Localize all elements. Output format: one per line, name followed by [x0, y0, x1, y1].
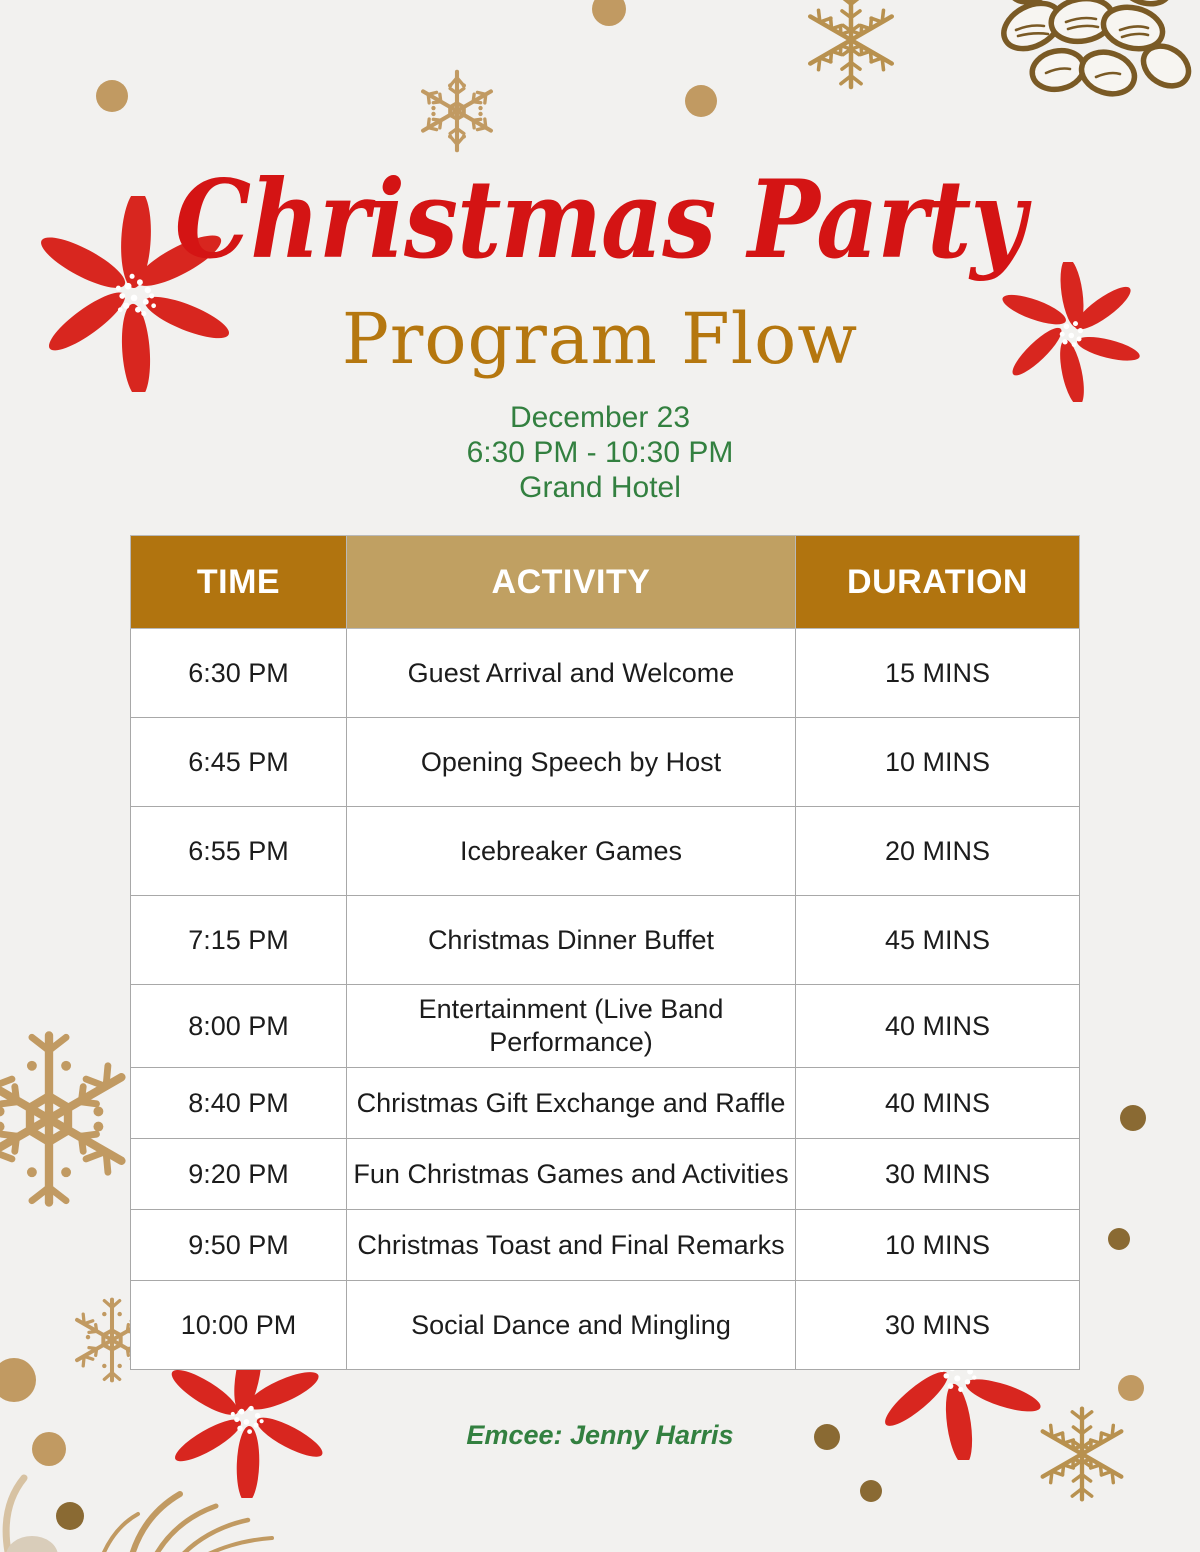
row-activity: Opening Speech by Host: [347, 718, 796, 807]
gold-dot-far-bottom-left: [56, 1502, 84, 1530]
row-duration: 40 MINS: [796, 1068, 1080, 1139]
row-duration: 10 MINS: [796, 718, 1080, 807]
table-row: 8:00 PMEntertainment (Live Band Performa…: [131, 985, 1080, 1068]
table-row: 6:45 PMOpening Speech by Host10 MINS: [131, 718, 1080, 807]
page-title-script: Christmas Party: [0, 166, 1200, 274]
table-row: 10:00 PMSocial Dance and Mingling30 MINS: [131, 1281, 1080, 1370]
row-duration: 45 MINS: [796, 896, 1080, 985]
gold-dot-right-lower: [1108, 1228, 1130, 1250]
table-row: 6:55 PMIcebreaker Games20 MINS: [131, 807, 1080, 896]
page-title-serif: Program Flow: [0, 304, 1200, 374]
snowflake-left-middle-icon: [0, 1024, 144, 1214]
table-row: 9:50 PMChristmas Toast and Final Remarks…: [131, 1210, 1080, 1281]
snowflake-bottom-right-icon: [1028, 1400, 1136, 1508]
row-duration: 30 MINS: [796, 1139, 1080, 1210]
row-time: 6:30 PM: [131, 629, 347, 718]
event-date: December 23: [0, 400, 1200, 435]
gold-dot-right-middle: [1120, 1105, 1146, 1131]
event-details: December 23 6:30 PM - 10:30 PM Grand Hot…: [0, 400, 1200, 505]
title-block: Christmas Party: [0, 178, 1200, 298]
row-time: 10:00 PM: [131, 1281, 347, 1370]
table-head: TIME ACTIVITY DURATION: [131, 536, 1080, 629]
row-time: 9:20 PM: [131, 1139, 347, 1210]
row-duration: 30 MINS: [796, 1281, 1080, 1370]
row-time: 8:40 PM: [131, 1068, 347, 1139]
gold-dot-bottom-right: [1118, 1375, 1144, 1401]
row-activity: Christmas Toast and Final Remarks: [347, 1210, 796, 1281]
row-time: 6:45 PM: [131, 718, 347, 807]
gold-dot-bottom-left-a: [0, 1358, 36, 1402]
program-table-wrapper: TIME ACTIVITY DURATION 6:30 PMGuest Arri…: [130, 535, 1070, 1370]
poster-header: Christmas Party Program Flow December 23…: [0, 0, 1200, 505]
table-row: 8:40 PMChristmas Gift Exchange and Raffl…: [131, 1068, 1080, 1139]
row-duration: 40 MINS: [796, 985, 1080, 1068]
table-row: 6:30 PMGuest Arrival and Welcome15 MINS: [131, 629, 1080, 718]
row-time: 9:50 PM: [131, 1210, 347, 1281]
row-activity: Christmas Gift Exchange and Raffle: [347, 1068, 796, 1139]
row-time: 6:55 PM: [131, 807, 347, 896]
row-activity: Social Dance and Mingling: [347, 1281, 796, 1370]
emcee-credit: Emcee: Jenny Harris: [0, 1420, 1200, 1451]
table-row: 9:20 PMFun Christmas Games and Activitie…: [131, 1139, 1080, 1210]
row-duration: 20 MINS: [796, 807, 1080, 896]
grass-strokes-bottom-left-icon: [0, 1452, 360, 1552]
column-header-activity: ACTIVITY: [347, 536, 796, 629]
table-body: 6:30 PMGuest Arrival and Welcome15 MINS6…: [131, 629, 1080, 1370]
row-duration: 15 MINS: [796, 629, 1080, 718]
row-duration: 10 MINS: [796, 1210, 1080, 1281]
table-header-row: TIME ACTIVITY DURATION: [131, 536, 1080, 629]
gold-dot-bottom-center-b: [860, 1480, 882, 1502]
row-activity: Christmas Dinner Buffet: [347, 896, 796, 985]
poster-page: Christmas Party Program Flow December 23…: [0, 0, 1200, 1552]
column-header-duration: DURATION: [796, 536, 1080, 629]
row-activity: Icebreaker Games: [347, 807, 796, 896]
table-row: 7:15 PMChristmas Dinner Buffet45 MINS: [131, 896, 1080, 985]
event-time-range: 6:30 PM - 10:30 PM: [0, 435, 1200, 470]
row-time: 8:00 PM: [131, 985, 347, 1068]
event-venue: Grand Hotel: [0, 470, 1200, 505]
program-table: TIME ACTIVITY DURATION 6:30 PMGuest Arri…: [130, 535, 1080, 1370]
column-header-time: TIME: [131, 536, 347, 629]
row-activity: Guest Arrival and Welcome: [347, 629, 796, 718]
row-activity: Fun Christmas Games and Activities: [347, 1139, 796, 1210]
row-time: 7:15 PM: [131, 896, 347, 985]
row-activity: Entertainment (Live Band Performance): [347, 985, 796, 1068]
